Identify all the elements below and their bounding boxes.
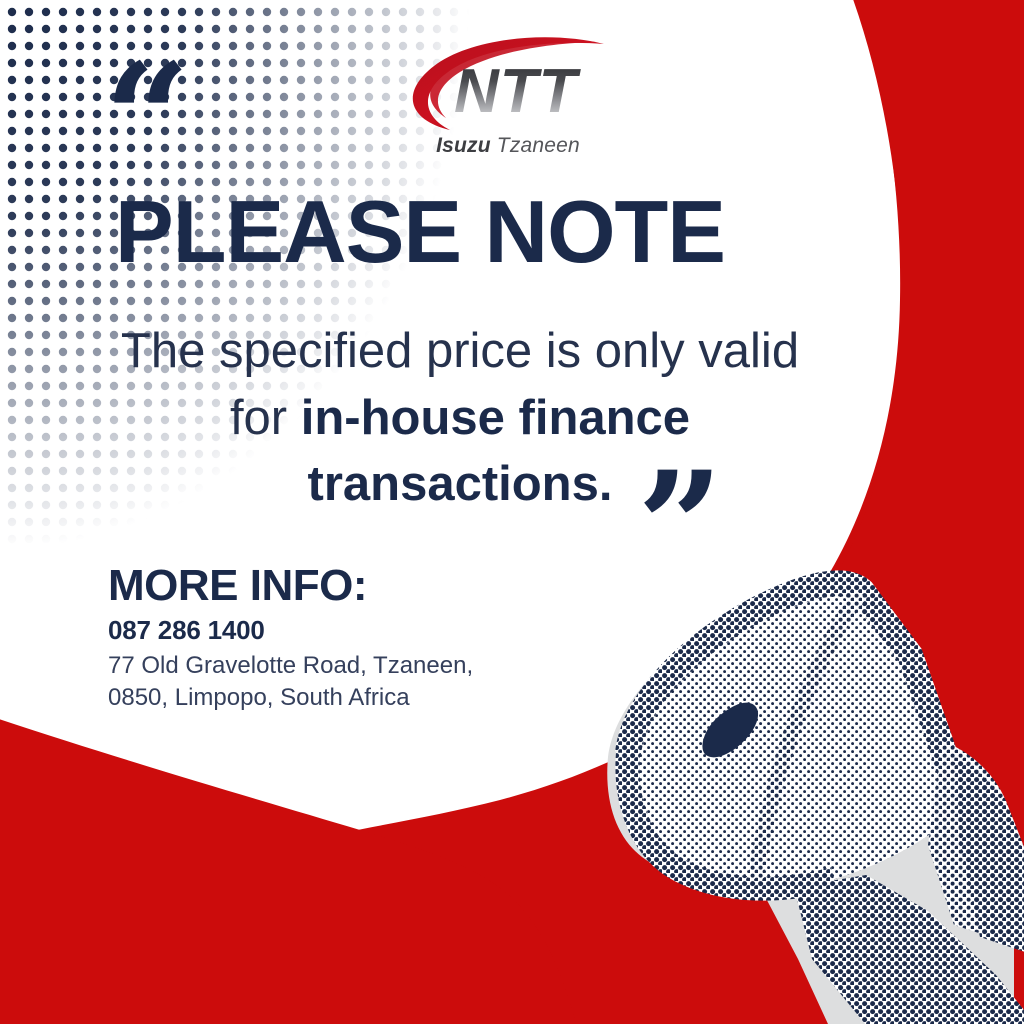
notice-line-2: for in-house finance xyxy=(40,385,880,452)
more-info-heading: MORE INFO: xyxy=(108,563,473,609)
dealership-town: Tzaneen xyxy=(497,134,580,157)
ntt-wordmark-icon: NTT xyxy=(398,36,618,132)
page-title: PLEASE NOTE xyxy=(0,188,840,276)
address: 77 Old Gravelotte Road, Tzaneen, 0850, L… xyxy=(108,650,473,713)
notice-line-2-prefix: for xyxy=(230,391,301,445)
notice-line-3: transactions. xyxy=(40,451,880,518)
address-line-1: 77 Old Gravelotte Road, Tzaneen, xyxy=(108,650,473,682)
notice-line-3-emphasis: transactions. xyxy=(308,457,613,511)
poster-canvas: “ ” xyxy=(0,0,1024,1024)
notice-line-2-emphasis: in-house finance xyxy=(301,391,690,445)
notice-body: The specified price is only valid for in… xyxy=(40,318,880,518)
dealership-brand: Isuzu xyxy=(436,134,491,157)
svg-text:NTT: NTT xyxy=(454,57,582,126)
ntt-logo[interactable]: NTT Isuzu Tzaneen xyxy=(398,36,618,166)
phone-number[interactable]: 087 286 1400 xyxy=(108,615,473,646)
notice-line-1: The specified price is only valid xyxy=(40,318,880,385)
megaphone-icon xyxy=(598,545,1024,1024)
address-line-2: 0850, Limpopo, South Africa xyxy=(108,682,473,714)
open-quote-icon: “ xyxy=(104,44,184,194)
dealership-name: Isuzu Tzaneen xyxy=(398,134,618,158)
contact-block: MORE INFO: 087 286 1400 77 Old Gravelott… xyxy=(108,563,473,714)
ntt-logo-mark: NTT xyxy=(398,36,618,132)
